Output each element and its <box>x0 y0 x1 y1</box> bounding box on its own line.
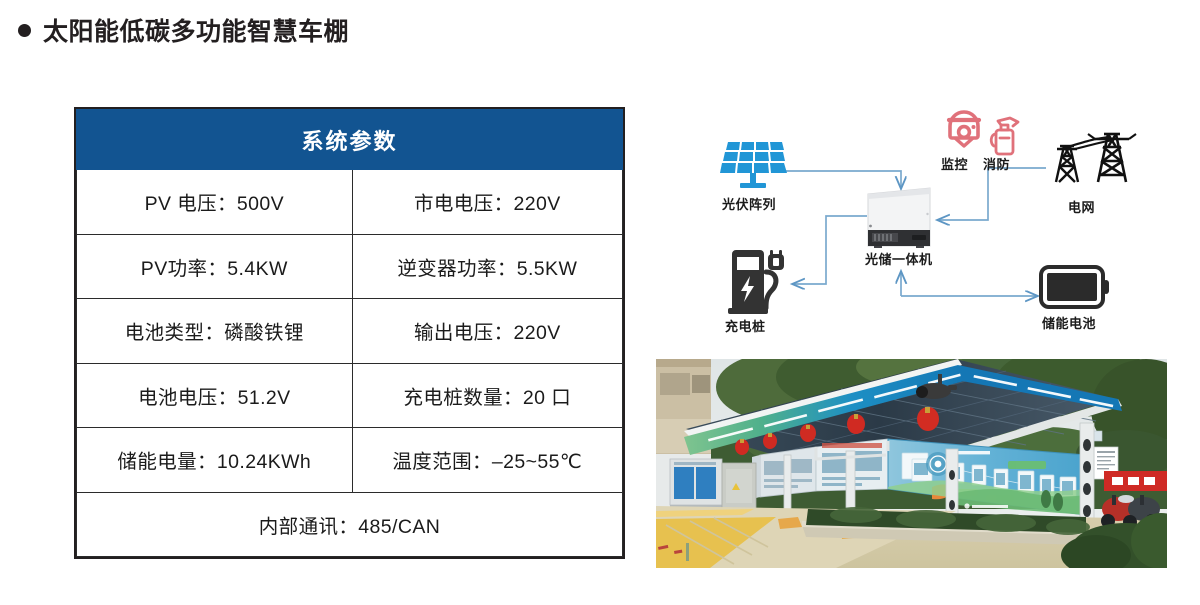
charging-pile-icon <box>728 250 784 314</box>
fire-extinguisher-icon <box>991 118 1018 154</box>
table-cell-output-voltage: 输出电压：220V <box>352 299 622 364</box>
table-header-cell: 系统参数 <box>77 110 623 170</box>
table-row: 储能电量：10.24KWh 温度范围：–25~55℃ <box>77 428 623 493</box>
diagram-label-monitor: 监控 <box>941 154 968 173</box>
inverter-cabinet-icon <box>868 188 930 248</box>
diagram-label-pv: 光伏阵列 <box>722 194 776 213</box>
table-row: 内部通讯：485/CAN <box>77 492 623 557</box>
page-title: 太阳能低碳多功能智慧车棚 <box>18 12 349 48</box>
power-pylon-icon <box>1056 134 1136 182</box>
page-title-text: 太阳能低碳多功能智慧车棚 <box>43 12 349 48</box>
bullet-dot-icon <box>18 24 31 37</box>
table-cell-temperature-range: 温度范围：–25~55℃ <box>352 428 622 493</box>
table-cell-pv-voltage: PV 电压：500V <box>77 170 353 235</box>
table-row: 电池电压：51.2V 充电桩数量：20 口 <box>77 363 623 428</box>
table-cell-mains-voltage: 市电电压：220V <box>352 170 622 235</box>
table-cell-pv-power: PV功率：5.4KW <box>77 234 353 299</box>
table-cell-battery-type: 电池类型：磷酸铁锂 <box>77 299 353 364</box>
table-cell-inverter-power: 逆变器功率：5.5KW <box>352 234 622 299</box>
table-cell-charger-count: 充电桩数量：20 口 <box>352 363 622 428</box>
system-parameters-table: 系统参数 PV 电压：500V 市电电压：220V PV功率：5.4KW 逆变器… <box>74 107 625 559</box>
slide-page: 太阳能低碳多功能智慧车棚 系统参数 PV 电压：500V 市电电压：220V P… <box>0 0 1200 605</box>
diagram-label-battery: 储能电池 <box>1042 313 1096 332</box>
table-header-row: 系统参数 <box>77 110 623 170</box>
solar-panel-icon <box>718 142 787 188</box>
carport-photo <box>656 359 1167 568</box>
diagram-label-fire: 消防 <box>983 154 1010 173</box>
diagram-label-inverter: 光储一体机 <box>865 249 933 268</box>
table-cell-storage-capacity: 储能电量：10.24KWh <box>77 428 353 493</box>
cctv-camera-icon <box>949 112 979 146</box>
system-architecture-diagram: 光伏阵列 监控 消防 电网 光储一体机 充电桩 储能电池 <box>650 100 1200 355</box>
table-row: PV功率：5.4KW 逆变器功率：5.5KW <box>77 234 623 299</box>
table-cell-battery-voltage: 电池电压：51.2V <box>77 363 353 428</box>
diagram-label-grid: 电网 <box>1068 197 1095 216</box>
table-row: PV 电压：500V 市电电压：220V <box>77 170 623 235</box>
battery-icon <box>1041 267 1109 307</box>
table-row: 电池类型：磷酸铁锂 输出电压：220V <box>77 299 623 364</box>
table-cell-internal-comm: 内部通讯：485/CAN <box>77 492 623 557</box>
diagram-label-charger: 充电桩 <box>725 316 766 335</box>
